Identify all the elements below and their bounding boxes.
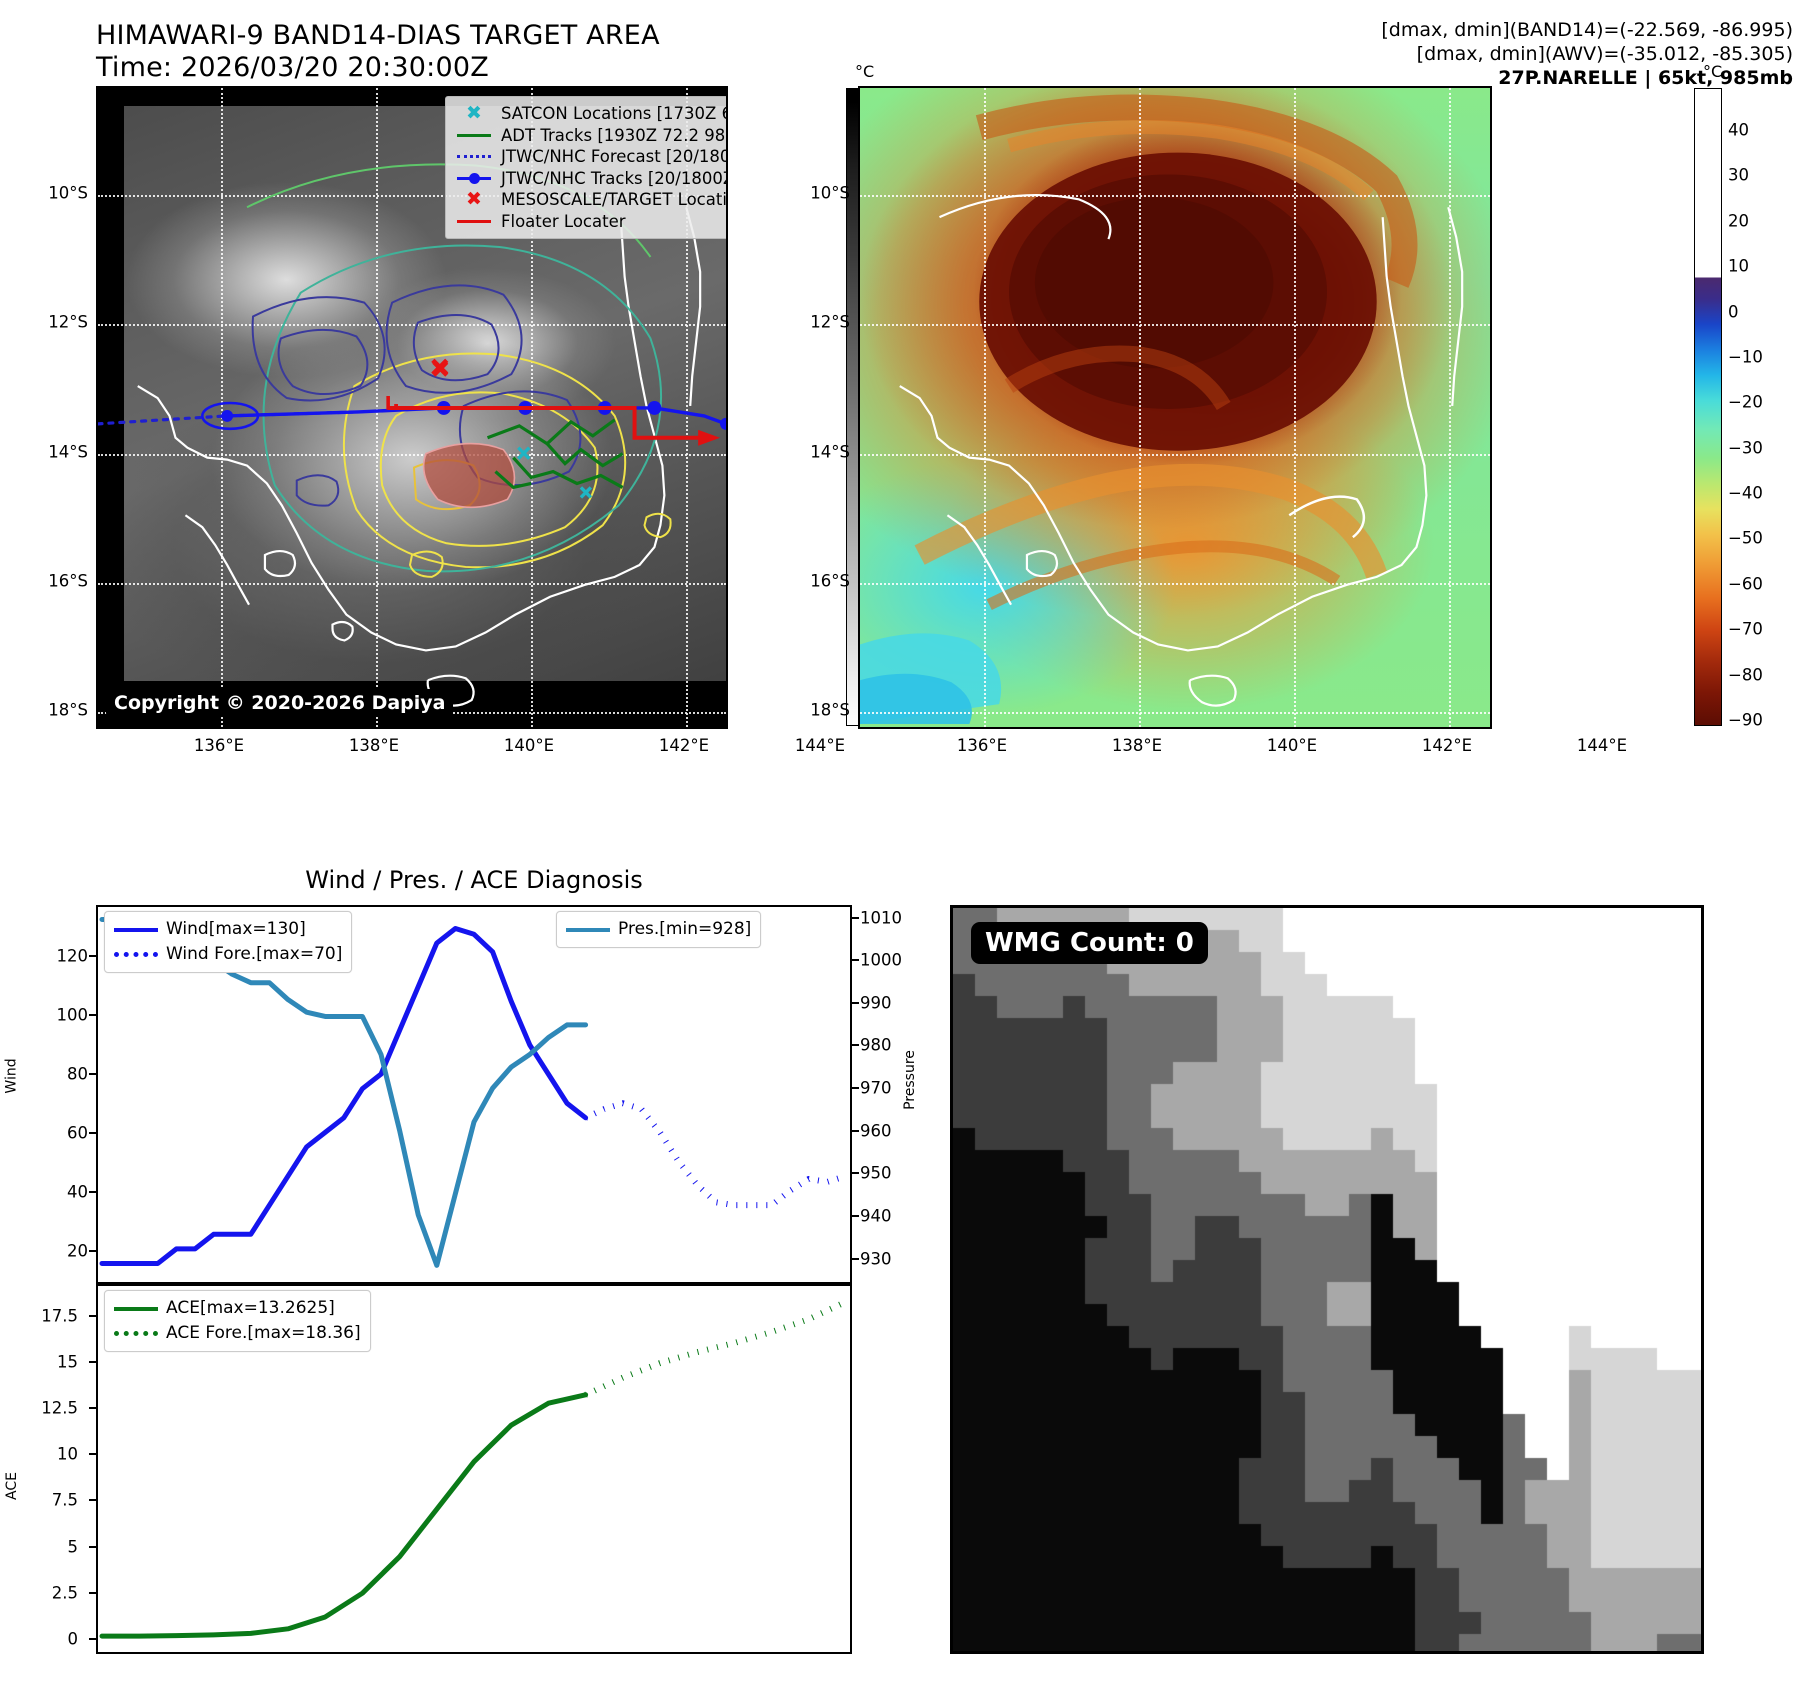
colorbar-tick: −40 [1728, 484, 1763, 503]
legend-label: ACE[max=13.2625] [162, 1296, 335, 1321]
colorbar-tick: −10 [1728, 347, 1763, 366]
lat-label-12s: 12°S [30, 313, 88, 332]
series-line [102, 1395, 586, 1636]
solid-line-icon [566, 928, 614, 932]
axis-tick-mark [852, 1258, 859, 1260]
legend-label: Floater Locater [495, 211, 626, 233]
gridline-lon-140e [1294, 88, 1296, 727]
colorbar-tick: −90 [1728, 711, 1763, 730]
legend-label: MESOSCALE/TARGET Location [495, 189, 728, 211]
axis-tick-label: 17.5 [22, 1306, 78, 1325]
page-title: HIMAWARI-9 BAND14-DIAS TARGET AREA [96, 20, 660, 51]
axis-tick-label: 1000 [860, 951, 920, 970]
timestamp-label: Time: 2026/03/20 20:30:00Z [96, 52, 489, 83]
axis-tick-label: 5 [22, 1537, 78, 1556]
colorbar-left-unit: °C [855, 62, 874, 81]
axis-tick-mark [852, 1087, 859, 1089]
axis-tick-mark [89, 1250, 96, 1252]
wind-pressure-chart[interactable]: Wind[max=130] Wind Fore.[max=70] Pres.[m… [96, 905, 852, 1284]
colorbar-tick: −60 [1728, 574, 1763, 593]
legend-label: ACE Fore.[max=18.36] [162, 1321, 361, 1346]
wind-axis-title: Wind [4, 1058, 20, 1093]
axis-tick-label: 7.5 [22, 1491, 78, 1510]
ace-chart[interactable]: ACE[max=13.2625] ACE Fore.[max=18.36] [96, 1284, 852, 1654]
colorbar-tick: −20 [1728, 393, 1763, 412]
axis-tick-label: 0 [22, 1629, 78, 1648]
axis-tick-mark [852, 959, 859, 961]
axis-tick-label: 930 [860, 1249, 920, 1268]
lon-label-140e: 140°E [1267, 736, 1317, 755]
colorbar-tick: −70 [1728, 620, 1763, 639]
legend-item-satcon-locations: ✖ SATCON Locations [1730Z 67 975] [453, 103, 728, 125]
colorbar-right-unit: °C [1703, 62, 1722, 81]
lon-label-144e: 144°E [795, 736, 845, 755]
gridline-lat-14s [860, 454, 1490, 456]
colorbar-tick: −80 [1728, 665, 1763, 684]
band14-range-label: [dmax, dmin](BAND14)=(-22.569, -86.995) [1381, 18, 1793, 42]
lon-label-142e: 142°E [1422, 736, 1472, 755]
pressure-legend: Pres.[min=928] [556, 911, 761, 948]
axis-tick-label: 60 [32, 1123, 88, 1142]
lon-label-144e: 144°E [1577, 736, 1627, 755]
x-marker-icon: ✖ [453, 104, 495, 123]
wmg-raster [953, 908, 1701, 1651]
axis-tick-mark [89, 1592, 96, 1594]
lat-label-10s: 10°S [792, 184, 850, 203]
gridline-lat-10s [860, 195, 1490, 197]
axis-tick-mark [852, 1002, 859, 1004]
axis-tick-label: 15 [22, 1352, 78, 1371]
lat-label-16s: 16°S [792, 572, 850, 591]
axis-tick-label: 120 [32, 947, 88, 966]
solid-line-icon [453, 134, 495, 137]
legend-item-mesoscale-target: ✖ MESOSCALE/TARGET Location [453, 189, 728, 211]
colorbar-tick: 30 [1728, 166, 1749, 185]
gridline-lon-142e [1449, 88, 1451, 727]
gridline-lat-18s [860, 712, 1490, 714]
legend-label: Pres.[min=928] [614, 917, 751, 942]
colorbar-tick: −30 [1728, 438, 1763, 457]
colorbar-right-gradient [1694, 88, 1722, 726]
pressure-axis-title: Pressure [902, 1050, 918, 1110]
gridline-lat-16s [860, 583, 1490, 585]
wmg-count-badge: WMG Count: 0 [971, 922, 1208, 964]
legend-label: JTWC/NHC Forecast [20/1800Z] [495, 146, 728, 168]
axis-tick-mark [852, 1215, 859, 1217]
gridline-lon-136e [984, 88, 986, 727]
lat-label-18s: 18°S [30, 701, 88, 720]
legend-label: JTWC/NHC Tracks [20/1800Z] [495, 168, 728, 190]
storm-info-label: 27P.NARELLE | 65kt, 985mb [1498, 66, 1793, 90]
axis-tick-mark [89, 1546, 96, 1548]
marker-line-icon [453, 177, 495, 180]
axis-tick-label: 20 [32, 1241, 88, 1260]
ir-map-legend: ✖ SATCON Locations [1730Z 67 975] ADT Tr… [445, 96, 728, 239]
ace-legend: ACE[max=13.2625] ACE Fore.[max=18.36] [104, 1290, 371, 1352]
axis-tick-mark [89, 1453, 96, 1455]
axis-tick-label: 990 [860, 993, 920, 1012]
legend-item-wind: Wind[max=130] [114, 917, 342, 942]
legend-item-ace-forecast: ACE Fore.[max=18.36] [114, 1321, 361, 1346]
axis-tick-label: 950 [860, 1164, 920, 1183]
lon-label-136e: 136°E [957, 736, 1007, 755]
axis-tick-label: 960 [860, 1121, 920, 1140]
awv-range-label: [dmax, dmin](AWV)=(-35.012, -85.305) [1417, 42, 1793, 66]
colorbar-tick: 40 [1728, 121, 1749, 140]
axis-tick-label: 10 [22, 1445, 78, 1464]
ace-axis-title: ACE [4, 1472, 20, 1500]
legend-label: ADT Tracks [1930Z 72.2 981.0] [495, 125, 728, 147]
x-marker-icon: ✖ [453, 190, 495, 209]
axis-tick-mark [89, 1191, 96, 1193]
eir-cloud-structure-overlay [860, 88, 1490, 727]
dotted-line-icon [114, 952, 162, 957]
series-line [586, 1302, 846, 1395]
lat-label-14s: 14°S [792, 443, 850, 462]
solid-line-icon [453, 220, 495, 223]
wind-legend: Wind[max=130] Wind Fore.[max=70] [104, 911, 352, 973]
lat-label-10s: 10°S [30, 184, 88, 203]
lat-label-14s: 14°S [30, 443, 88, 462]
axis-tick-label: 2.5 [22, 1583, 78, 1602]
legend-label: SATCON Locations [1730Z 67 975] [495, 103, 728, 125]
solid-line-icon [114, 928, 162, 932]
legend-item-pressure: Pres.[min=928] [566, 917, 751, 942]
axis-tick-mark [89, 1315, 96, 1317]
colorbar-tick: −50 [1728, 529, 1763, 548]
axis-tick-mark [852, 1130, 859, 1132]
dotted-line-icon [114, 1331, 162, 1336]
axis-tick-mark [89, 1407, 96, 1409]
dashboard-root: HIMAWARI-9 BAND14-DIAS TARGET AREA Time:… [0, 0, 1801, 1690]
dotted-line-icon [453, 155, 495, 158]
axis-tick-label: 12.5 [22, 1399, 78, 1418]
copyright-badge: Copyright © 2020-2026 Dapiya [106, 689, 453, 717]
lat-label-16s: 16°S [30, 572, 88, 591]
diagnosis-title: Wind / Pres. / ACE Diagnosis [96, 866, 852, 894]
gridline-lon-138e [1139, 88, 1141, 727]
colorbar-tick: 20 [1728, 211, 1749, 230]
legend-item-floater-locater: Floater Locater [453, 211, 728, 233]
axis-tick-label: 80 [32, 1064, 88, 1083]
gridline-lat-12s [860, 324, 1490, 326]
lon-label-138e: 138°E [1112, 736, 1162, 755]
axis-tick-mark [89, 1014, 96, 1016]
lat-label-12s: 12°S [792, 313, 850, 332]
colorbar-tick: 0 [1728, 302, 1739, 321]
lon-label-138e: 138°E [349, 736, 399, 755]
axis-tick-label: 940 [860, 1207, 920, 1226]
legend-label: Wind Fore.[max=70] [162, 942, 342, 967]
axis-tick-label: 40 [32, 1182, 88, 1201]
axis-tick-mark [89, 1132, 96, 1134]
axis-tick-mark [89, 1073, 96, 1075]
legend-label: Wind[max=130] [162, 917, 306, 942]
axis-tick-mark [852, 917, 859, 919]
lon-label-136e: 136°E [194, 736, 244, 755]
series-line [586, 1103, 846, 1205]
legend-item-ace: ACE[max=13.2625] [114, 1296, 361, 1321]
axis-tick-label: 1010 [860, 908, 920, 927]
axis-tick-mark [89, 955, 96, 957]
solid-line-icon [114, 1307, 162, 1311]
lon-label-140e: 140°E [504, 736, 554, 755]
legend-item-jtwc-tracks: JTWC/NHC Tracks [20/1800Z] [453, 168, 728, 190]
axis-tick-mark [852, 1172, 859, 1174]
axis-tick-mark [89, 1361, 96, 1363]
axis-tick-mark [89, 1638, 96, 1640]
axis-tick-label: 100 [32, 1006, 88, 1025]
ir-target-area-map[interactable]: ✖ SATCON Locations [1730Z 67 975] ADT Tr… [96, 86, 728, 729]
wmg-classification-map[interactable]: WMG Count: 0 [950, 905, 1704, 1654]
lon-label-142e: 142°E [659, 736, 709, 755]
axis-tick-mark [89, 1499, 96, 1501]
enhanced-ir-map[interactable] [858, 86, 1492, 729]
lat-label-18s: 18°S [792, 701, 850, 720]
legend-item-wind-forecast: Wind Fore.[max=70] [114, 942, 342, 967]
axis-tick-mark [852, 1044, 859, 1046]
series-line [102, 928, 586, 1263]
legend-item-adt-tracks: ADT Tracks [1930Z 72.2 981.0] [453, 125, 728, 147]
colorbar-tick: 10 [1728, 257, 1749, 276]
legend-item-jtwc-forecast: JTWC/NHC Forecast [20/1800Z] [453, 146, 728, 168]
